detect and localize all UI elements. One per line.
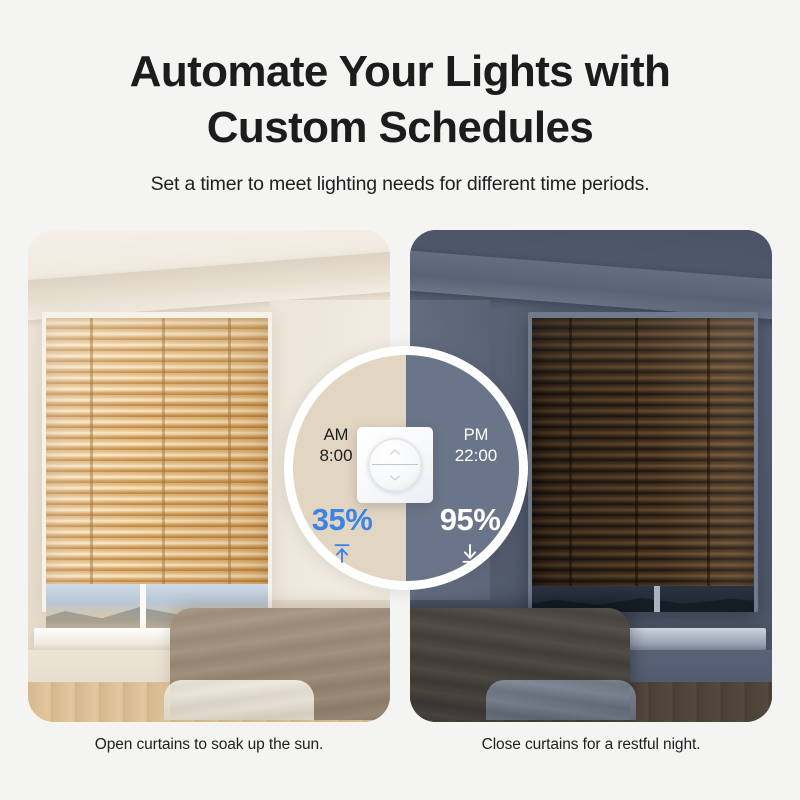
- smart-wall-switch[interactable]: [357, 427, 433, 503]
- blind-cord: [569, 318, 572, 612]
- blind-cord: [162, 318, 165, 612]
- evening-time-value: 22:00: [438, 445, 514, 466]
- caption-nighttime: Close curtains for a restful night.: [410, 736, 772, 754]
- blind-cord: [707, 318, 710, 612]
- venetian-blinds-open: [46, 318, 268, 612]
- window-mullion: [654, 586, 660, 612]
- blind-cord: [635, 318, 638, 612]
- arrow-down-to-line-icon: [428, 542, 512, 564]
- switch-rocker-button[interactable]: [368, 438, 422, 492]
- evening-time-block: PM 22:00: [438, 426, 514, 467]
- headline-line-1: Automate Your Lights with: [130, 47, 671, 96]
- morning-percent-block: 35%: [300, 504, 384, 564]
- page-subtitle: Set a timer to meet lighting needs for d…: [0, 173, 800, 196]
- venetian-blinds-closed: [532, 318, 754, 612]
- blind-cord: [228, 318, 231, 612]
- header: Automate Your Lights with Custom Schedul…: [0, 0, 800, 196]
- panel-captions: Open curtains to soak up the sun. Close …: [28, 736, 772, 754]
- chevron-down-icon: [390, 475, 401, 481]
- headline-line-2: Custom Schedules: [207, 103, 594, 152]
- bed: [410, 608, 630, 720]
- blind-cord: [90, 318, 93, 612]
- caption-daytime: Open curtains to soak up the sun.: [28, 736, 390, 754]
- arrow-up-to-line-icon: [300, 542, 384, 564]
- schedule-circle-overlay: AM 8:00 PM 22:00 35% 95%: [284, 346, 528, 590]
- morning-percent-value: 35%: [300, 504, 384, 535]
- promo-page: Automate Your Lights with Custom Schedul…: [0, 0, 800, 800]
- window-mullion: [140, 584, 146, 630]
- evening-percent-value: 95%: [428, 504, 512, 535]
- evening-period-label: PM: [438, 426, 514, 445]
- page-title: Automate Your Lights with Custom Schedul…: [55, 44, 745, 157]
- evening-percent-block: 95%: [428, 504, 512, 564]
- chevron-up-icon: [390, 449, 401, 455]
- bed: [170, 608, 390, 720]
